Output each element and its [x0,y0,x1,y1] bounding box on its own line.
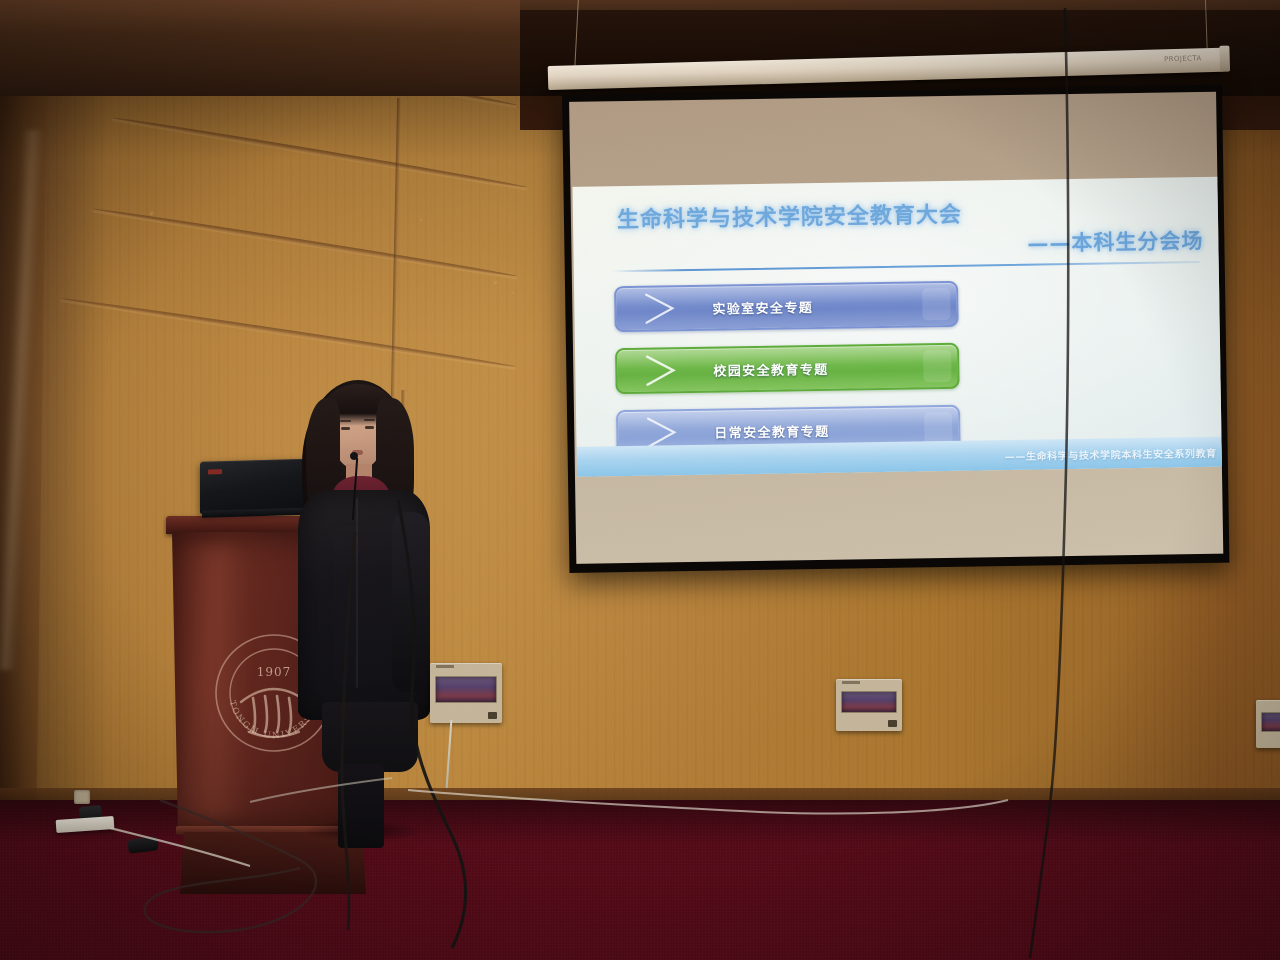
projection-screen: 生命科学与技术学院安全教育大会 ——本科生分会场 实验室安全专题 [562,85,1229,573]
slide-footnote: ——生命科学与技术学院本科生安全系列教育 [1005,445,1217,463]
slide-topic-bar-2: 校园安全教育专题 [615,343,960,394]
chevron-right-icon-2 [643,353,698,388]
wall-socket[interactable] [74,790,90,804]
presenter-skirt [322,702,418,772]
housing-brand-label: PROJECTA [1164,54,1202,63]
slide-topic-label-1: 实验室安全专题 [712,297,813,318]
slide-subtitle: ——本科生分会场 [1027,225,1203,258]
dust-speck-4 [512,292,514,294]
screen-surface: 生命科学与技术学院安全教育大会 ——本科生分会场 实验室安全专题 [569,92,1223,564]
av-panel-tick-left [436,665,454,668]
lecture-hall-scene: PROJECTA 生命科学与技术学院安全教育大会 ——本科生分会场 实验室安全专… [0,0,1280,960]
av-panel-button-left[interactable] [488,712,497,719]
projected-slide: 生命科学与技术学院安全教育大会 ——本科生分会场 实验室安全专题 [572,177,1223,477]
av-panel-display-center [841,691,897,713]
laptop-brand-logo [208,469,222,474]
bar-tail-1 [922,288,950,320]
presenter-legs [338,764,384,848]
bar-tail-3 [924,412,952,444]
av-panel-button-center[interactable] [888,720,897,727]
av-panel-display-right [1261,712,1280,732]
slide-topic-label-3: 日常安全教育专题 [714,420,829,441]
slide-divider-rule [612,261,1200,272]
dust-speck-3 [494,281,497,284]
av-panel-tick-center [842,681,860,684]
bar-tail-2 [923,350,951,382]
wall-av-panel-center[interactable] [836,679,902,731]
slide-title: 生命科学与技术学院安全教育大会 [617,197,962,234]
presenter-coat-seam [356,498,358,688]
dust-speck-2 [420,219,422,221]
slide-topic-label-2: 校园安全教育专题 [713,358,828,379]
chevron-right-icon-1 [642,291,697,326]
dust-speck-1 [150,212,153,215]
presenter-eye-right [365,426,374,429]
av-panel-display-left [435,676,497,703]
svg-text:1907: 1907 [257,665,292,679]
wall-av-panel-right[interactable] [1256,700,1280,748]
slide-topic-bar-1: 实验室安全专题 [614,281,959,332]
presenter-arm-right [392,512,430,692]
housing-end-cap [1219,46,1230,72]
presenter-eye-left [341,427,350,430]
presenter [296,372,432,842]
wall-av-panel-left[interactable] [430,663,502,723]
